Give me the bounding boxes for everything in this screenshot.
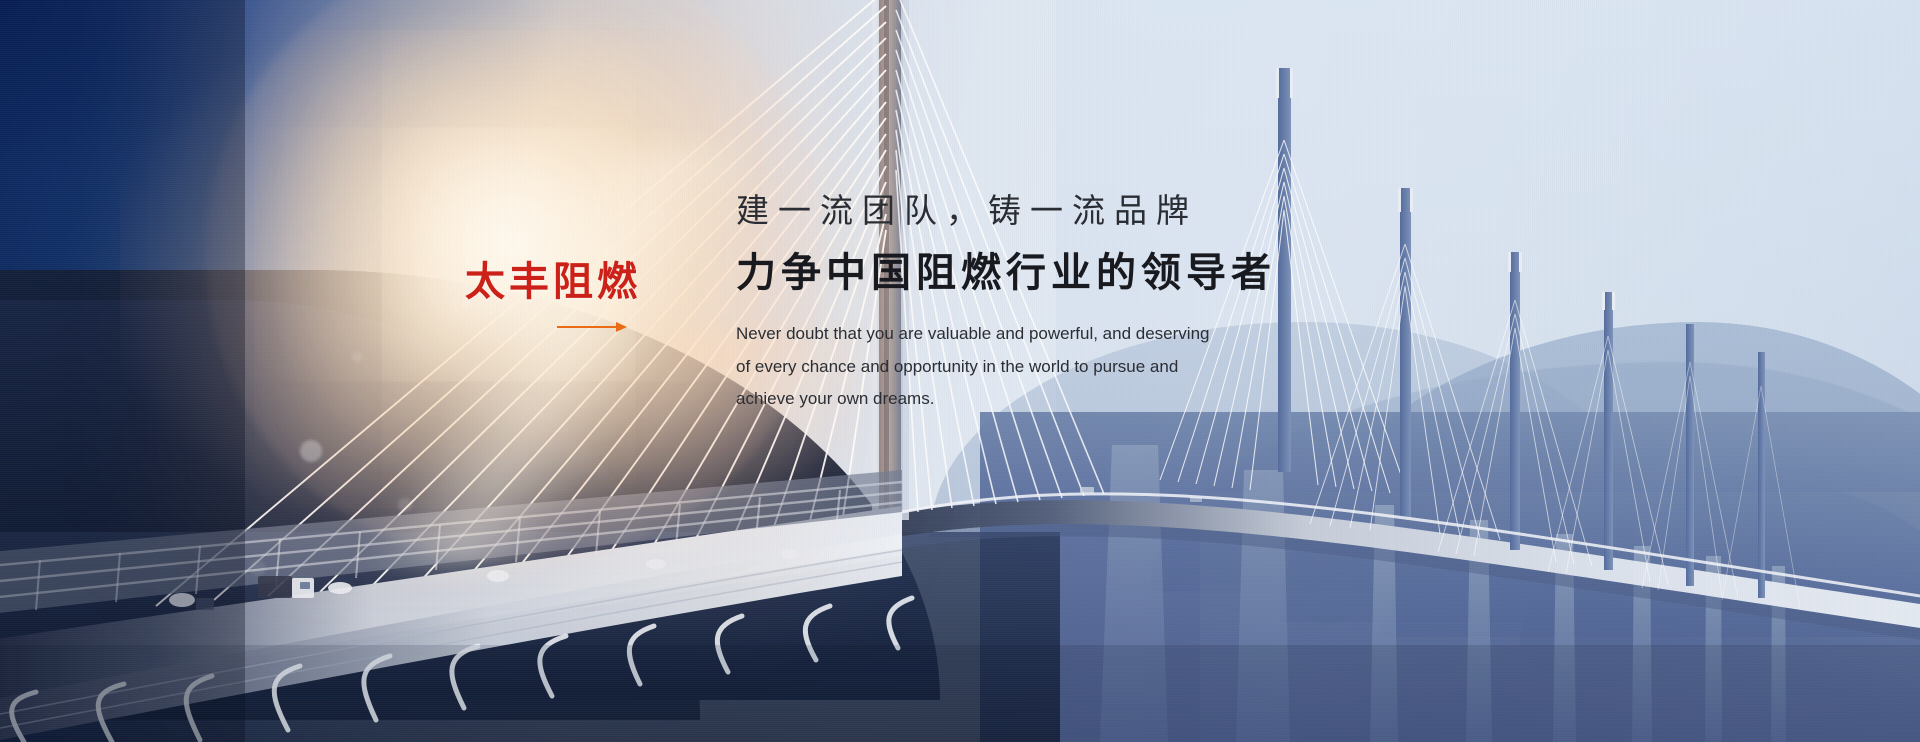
arrow-shaft [557, 326, 617, 328]
bokeh-dot [352, 352, 362, 362]
arrow-head [616, 322, 627, 332]
hero-subheadline: 建一流团队，铸一流品牌 [736, 190, 1356, 231]
paragraph-line-1: Never doubt that you are valuable and po… [736, 321, 1356, 347]
hero-banner: 太丰阻燃 建一流团队，铸一流品牌 力争中国阻燃行业的领导者 Never doub… [0, 0, 1920, 742]
pylon-4 [1438, 252, 1592, 566]
pylon-6 [1642, 324, 1738, 598]
arrow-right-icon [557, 322, 627, 332]
brand-wordmark: 太丰阻燃 [465, 262, 665, 302]
paragraph-line-2: of every chance and opportunity in the w… [736, 354, 1356, 380]
hero-headline: 力争中国阻燃行业的领导者 [736, 249, 1356, 297]
bokeh-dot [398, 498, 412, 512]
brand-logo[interactable]: 太丰阻燃 [465, 262, 665, 332]
paragraph-line-3: achieve your own dreams. [736, 386, 1356, 412]
hero-copy: 建一流团队，铸一流品牌 力争中国阻燃行业的领导者 Never doubt tha… [736, 190, 1356, 418]
bokeh-dot [300, 440, 322, 462]
hero-paragraph: Never doubt that you are valuable and po… [736, 321, 1356, 412]
left-dark-overlay-band [0, 0, 245, 742]
bokeh-dot [250, 560, 266, 576]
bottom-overlay-band [0, 645, 1920, 742]
